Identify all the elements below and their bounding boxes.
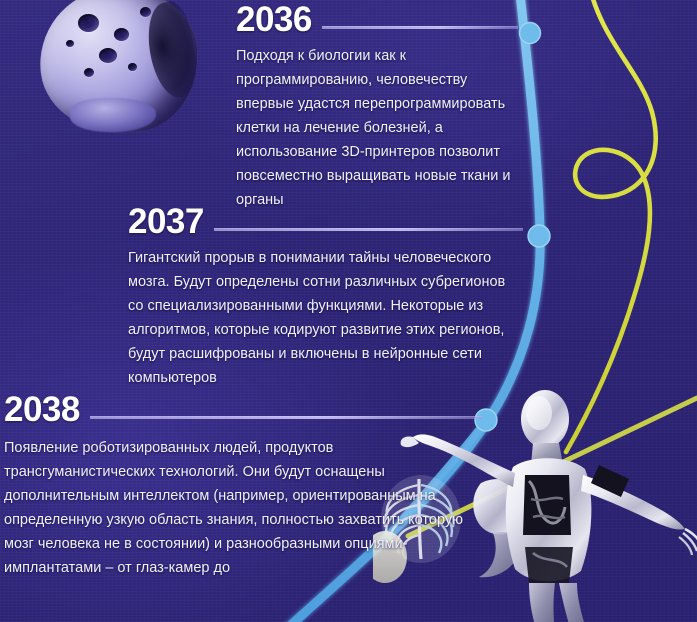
- asteroid-illustration: [40, 0, 198, 134]
- entry-body-2036: Подходя к биологии как к программировани…: [236, 44, 518, 212]
- timeline-node-2036: [520, 23, 541, 44]
- year-label-2037: 2037: [128, 204, 204, 239]
- asteroid-crater: [140, 7, 151, 17]
- asteroid-rubble: [70, 98, 156, 132]
- yellow-looping-curve: [566, 0, 656, 452]
- asteroid-crater: [66, 40, 74, 47]
- asteroid-crater: [78, 14, 99, 32]
- asteroid-crater: [128, 63, 137, 71]
- year-rule: [322, 26, 518, 29]
- timeline-node-2037: [528, 225, 550, 247]
- infographic-canvas: 2036 Подходя к биологии как к программир…: [0, 0, 697, 622]
- year-label-2036: 2036: [236, 2, 312, 37]
- timeline-entry-2037: 2037 Гигантский прорыв в понимании тайны…: [128, 204, 523, 390]
- year-rule: [90, 416, 482, 419]
- entry-header: 2037: [128, 204, 523, 239]
- year-rule: [214, 228, 523, 231]
- entry-header: 2038: [4, 392, 482, 427]
- entry-header: 2036: [236, 2, 518, 37]
- timeline-entry-2038: 2038 Появление роботизированных людей, п…: [4, 392, 482, 580]
- asteroid-crater: [84, 68, 94, 77]
- asteroid-crater: [114, 28, 129, 41]
- entry-body-2037: Гигантский прорыв в понимании тайны чело…: [128, 246, 523, 390]
- entry-body-2038: Появление роботизированных людей, продук…: [4, 436, 482, 580]
- year-label-2038: 2038: [4, 392, 80, 427]
- timeline-entry-2036: 2036 Подходя к биологии как к программир…: [236, 2, 518, 212]
- asteroid-crater: [99, 48, 117, 63]
